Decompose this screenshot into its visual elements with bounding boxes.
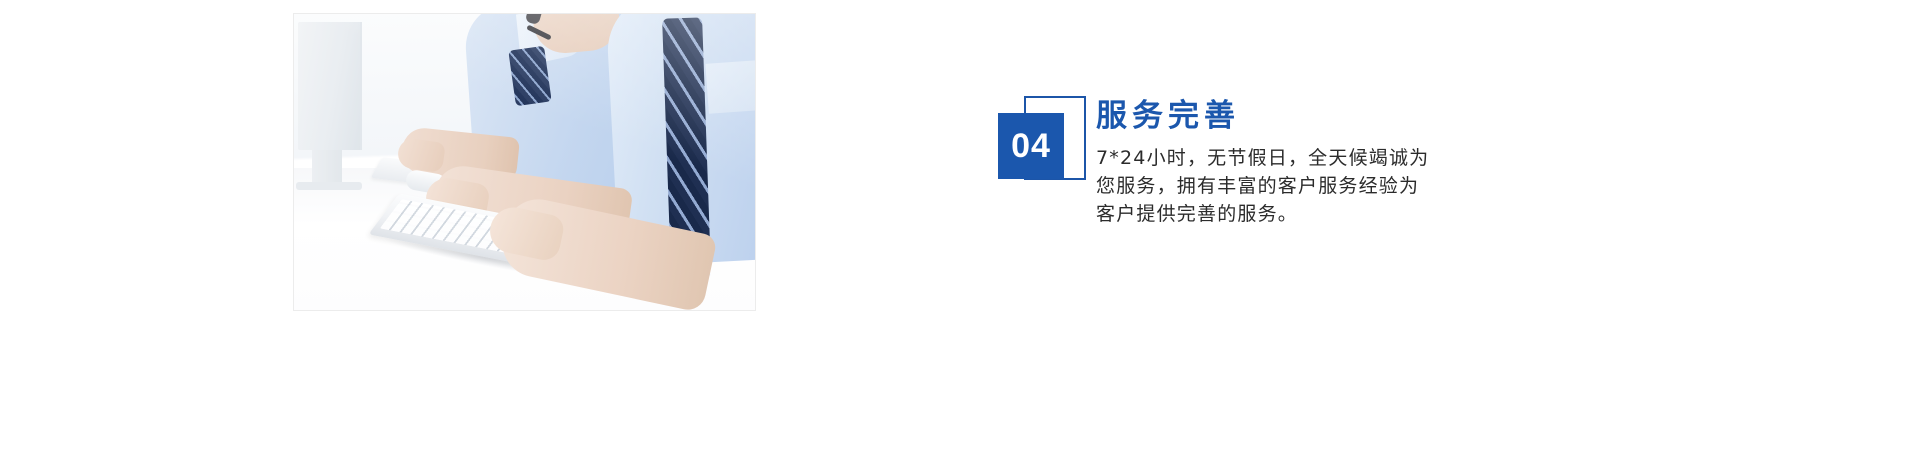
agent-back-tie xyxy=(508,46,551,106)
monitor-icon xyxy=(298,22,362,150)
heading-row: 04 服务完善 7*24小时，无节假日，全天候竭诚为 您服务，拥有丰富的客户服务… xyxy=(998,96,1618,182)
badge-number-label: 04 xyxy=(1011,129,1051,163)
badge-filled-square: 04 xyxy=(998,113,1064,179)
feature-text-block: 服务完善 7*24小时，无节假日，全天候竭诚为 您服务，拥有丰富的客户服务经验为… xyxy=(1096,96,1616,228)
monitor-base xyxy=(296,182,362,190)
feature-description: 7*24小时，无节假日，全天候竭诚为 您服务，拥有丰富的客户服务经验为 客户提供… xyxy=(1096,144,1616,228)
service-feature-banner: 04 服务完善 7*24小时，无节假日，全天候竭诚为 您服务，拥有丰富的客户服务… xyxy=(0,0,1920,452)
step-number-badge: 04 xyxy=(998,96,1090,182)
call-center-agents-photo xyxy=(294,14,755,310)
feature-content: 04 服务完善 7*24小时，无节假日，全天候竭诚为 您服务，拥有丰富的客户服务… xyxy=(998,96,1618,182)
photo-canvas xyxy=(294,14,755,310)
agent-front-pocket xyxy=(704,60,755,114)
feature-description-line-3: 客户提供完善的服务。 xyxy=(1096,200,1616,228)
agent-front-tie xyxy=(662,17,710,242)
feature-description-line-2: 您服务，拥有丰富的客户服务经验为 xyxy=(1096,172,1616,200)
feature-description-line-1: 7*24小时，无节假日，全天候竭诚为 xyxy=(1096,144,1616,172)
monitor-stand xyxy=(312,150,342,184)
feature-title: 服务完善 xyxy=(1096,96,1616,136)
